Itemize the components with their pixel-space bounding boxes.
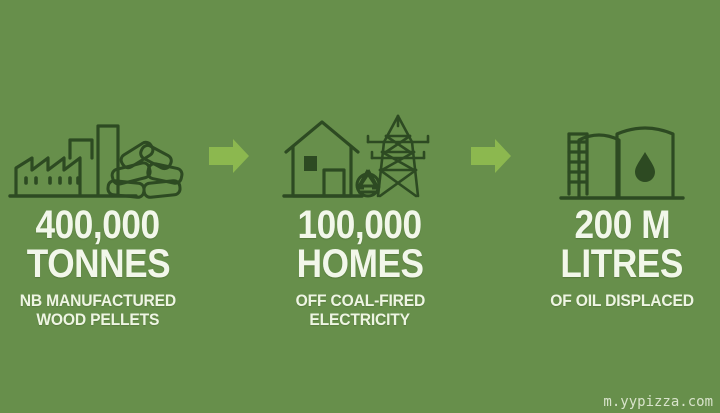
stats-spacer-1 [196, 206, 262, 329]
oil-storage-tanks-icon [557, 116, 687, 204]
stat-value-1: 400,000 [36, 206, 160, 245]
stats-row: 400,000 TONNES NB MANUFACTURED WOOD PELL… [0, 206, 720, 329]
connector-1-cell [196, 108, 262, 204]
stat-column-3: 200 M LITRES OF OIL DISPLACED [524, 206, 720, 329]
oil-droplet-icon [635, 152, 655, 182]
stat-unit-1: TONNES [26, 245, 169, 284]
watermark-text: m.yypizza.com [603, 394, 713, 410]
stat-column-2: 100,000 HOMES OFF COAL-FIRED ELECTRICITY [262, 206, 458, 329]
right-arrow-icon [207, 137, 251, 175]
right-arrow-icon [469, 137, 513, 175]
stat-description-2-line2: ELECTRICITY [310, 310, 411, 329]
stats-spacer-2 [458, 206, 524, 329]
house-power-pylon-recycling-icon [280, 112, 440, 204]
factory-wood-pellets-icon [8, 114, 188, 204]
connector-2-cell [458, 108, 524, 204]
stat-description-2-line1: OFF COAL-FIRED [295, 291, 424, 310]
stat-unit-3: LITRES [561, 245, 684, 284]
step-3-icon-cell [524, 108, 720, 204]
stat-value-2: 100,000 [298, 206, 422, 245]
step-2-icon-cell [262, 108, 458, 204]
stat-column-1: 400,000 TONNES NB MANUFACTURED WOOD PELL… [0, 206, 196, 329]
stat-description-1-line1: NB MANUFACTURED [20, 291, 176, 310]
stat-description-1-line2: WOOD PELLETS [37, 310, 160, 329]
stat-unit-2: HOMES [297, 245, 424, 284]
recycling-icon [357, 170, 379, 196]
icon-flow-row [0, 108, 720, 204]
stat-value-3: 200 M [574, 206, 670, 245]
stat-description-3-line1: OF OIL DISPLACED [550, 291, 694, 310]
step-1-icon-cell [0, 108, 196, 204]
infographic-canvas: 400,000 TONNES NB MANUFACTURED WOOD PELL… [0, 0, 720, 413]
